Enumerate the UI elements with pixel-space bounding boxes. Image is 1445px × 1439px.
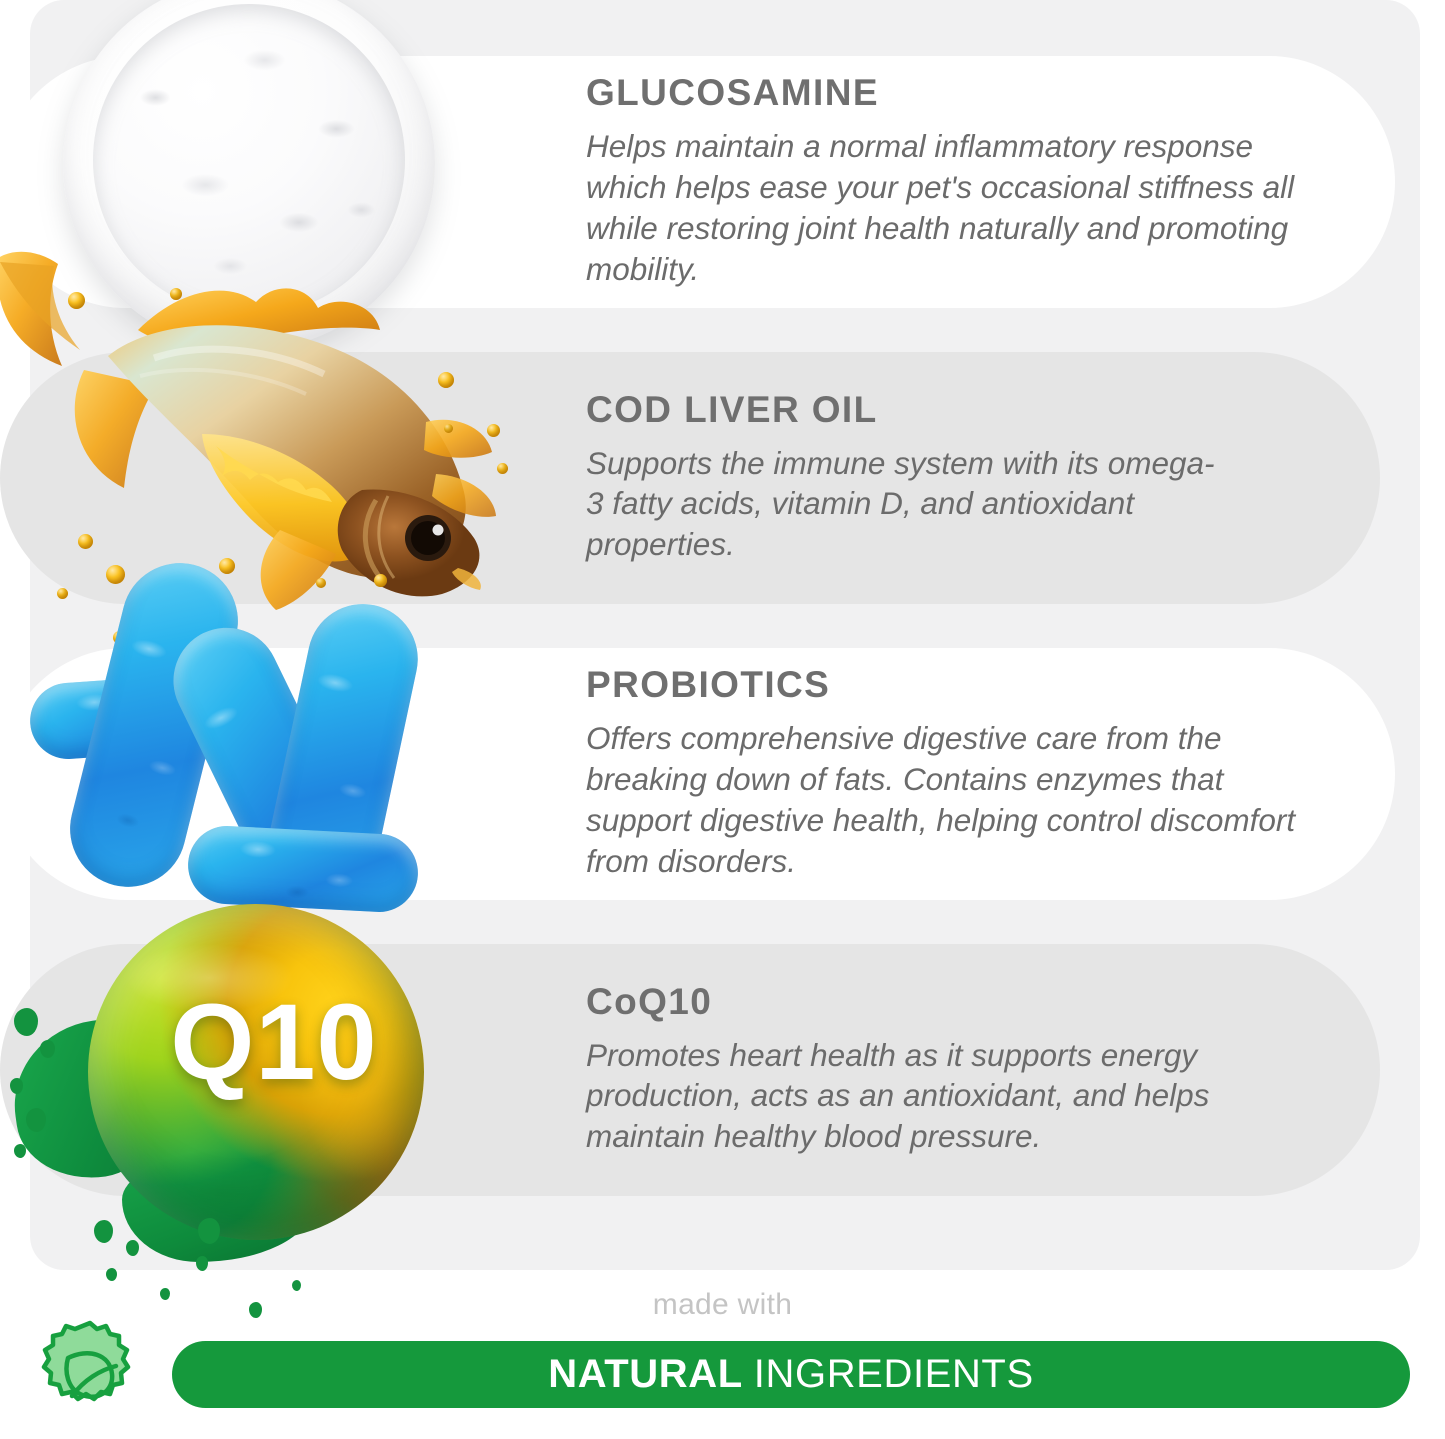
- ingredient-card-probiotics: PROBIOTICS Offers comprehensive digestiv…: [0, 648, 1395, 900]
- ingredient-description: Offers comprehensive digestive care from…: [586, 718, 1306, 882]
- leaf-seal-icon: [32, 1318, 148, 1434]
- ingredient-title: CoQ10: [586, 983, 1310, 1022]
- made-with-label: made with: [0, 1288, 1445, 1322]
- natural-ingredients-banner: NATURAL INGREDIENTS: [172, 1341, 1410, 1408]
- ingredient-card-cod-liver-oil: COD LIVER OIL Supports the immune system…: [0, 352, 1380, 604]
- ingredient-title: COD LIVER OIL: [586, 391, 1310, 430]
- liquid-droplet: [14, 1144, 26, 1158]
- banner-strong-text: NATURAL: [548, 1352, 743, 1397]
- ingredient-card-coq10: CoQ10 Promotes heart health as it suppor…: [0, 944, 1380, 1196]
- banner-light-text: INGREDIENTS: [754, 1352, 1034, 1397]
- ingredient-card-glucosamine: GLUCOSAMINE Helps maintain a normal infl…: [0, 56, 1395, 308]
- ingredient-title: GLUCOSAMINE: [586, 74, 1325, 113]
- ingredient-description: Promotes heart health as it supports ene…: [586, 1035, 1226, 1158]
- ingredient-description: Supports the immune system with its omeg…: [586, 443, 1226, 566]
- ingredient-title: PROBIOTICS: [586, 666, 1325, 705]
- ingredient-description: Helps maintain a normal inflammatory res…: [586, 126, 1306, 290]
